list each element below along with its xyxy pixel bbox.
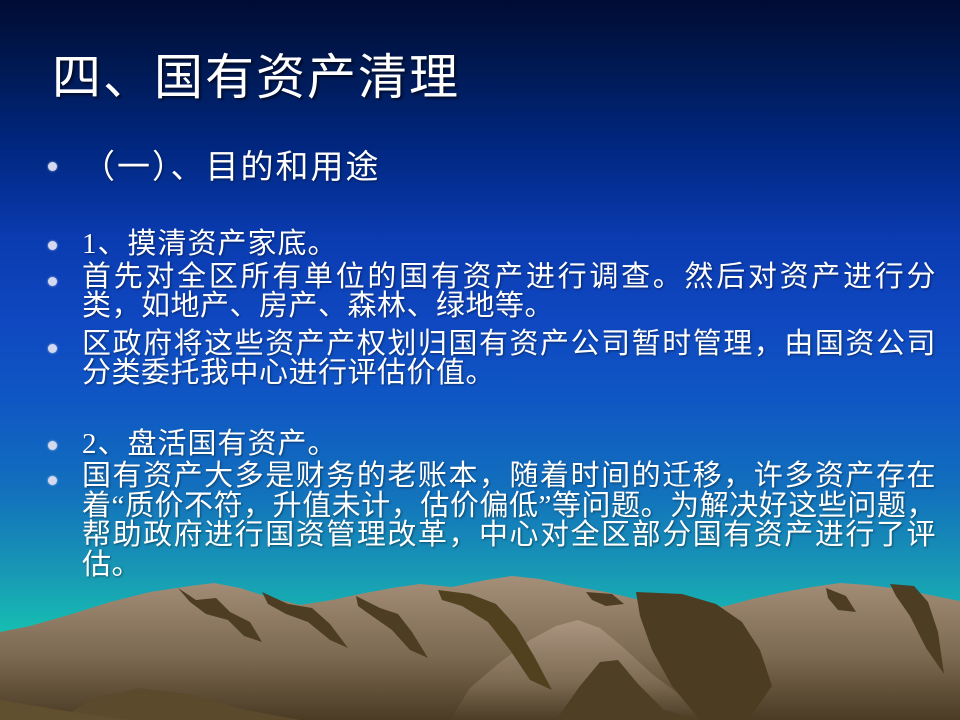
- bullet-text-point-1-heading: 1、摸清资产家底。: [82, 227, 936, 262]
- bullet-item-point-1-body: 首先对全区所有单位的国有资产进行调查。然后对资产进行分类，如地产、房产、森林、绿…: [48, 263, 936, 322]
- bullet-dot-icon: [48, 462, 82, 490]
- bullet-text-point-1-body: 首先对全区所有单位的国有资产进行调查。然后对资产进行分类，如地产、房产、森林、绿…: [82, 263, 936, 322]
- bullet-text-point-2-body: 国有资产大多是财务的老账本，随着时间的迁移，许多资产存在着“质价不符，升值未计，…: [82, 462, 936, 580]
- bullet-dot-icon: [48, 227, 82, 255]
- spacer: [48, 389, 936, 427]
- bullet-item-point-2-heading: 2、盘活国有资产。: [48, 427, 936, 462]
- slide-content: 四、国有资产清理 （一）、目的和用途 1、摸清资产家底。 首先对全区所有单位的国…: [0, 0, 960, 720]
- bullet-list: （一）、目的和用途 1、摸清资产家底。 首先对全区所有单位的国有资产进行调查。然…: [48, 148, 936, 581]
- bullet-item-point-1-body-2: 区政府将这些资产产权划归国有资产公司暂时管理，由国资公司分类委托我中心进行评估价…: [48, 330, 936, 389]
- bullet-item-point-1-heading: 1、摸清资产家底。: [48, 227, 936, 262]
- bullet-item-point-2-body: 国有资产大多是财务的老账本，随着时间的迁移，许多资产存在着“质价不符，升值未计，…: [48, 462, 936, 580]
- bullet-dot-icon: [48, 427, 82, 455]
- bullet-text-point-2-heading: 2、盘活国有资产。: [82, 427, 936, 462]
- presentation-slide: 四、国有资产清理 （一）、目的和用途 1、摸清资产家底。 首先对全区所有单位的国…: [0, 0, 960, 720]
- page-title: 四、国有资产清理: [52, 52, 460, 105]
- bullet-text-point-1-body-2: 区政府将这些资产产权划归国有资产公司暂时管理，由国资公司分类委托我中心进行评估价…: [82, 330, 936, 389]
- bullet-dot-icon: [48, 330, 82, 358]
- bullet-item-section-heading: （一）、目的和用途: [48, 148, 936, 189]
- bullet-dot-icon: [48, 148, 82, 176]
- bullet-dot-icon: [48, 263, 82, 291]
- spacer: [48, 189, 936, 227]
- bullet-text-section-heading: （一）、目的和用途: [82, 148, 936, 189]
